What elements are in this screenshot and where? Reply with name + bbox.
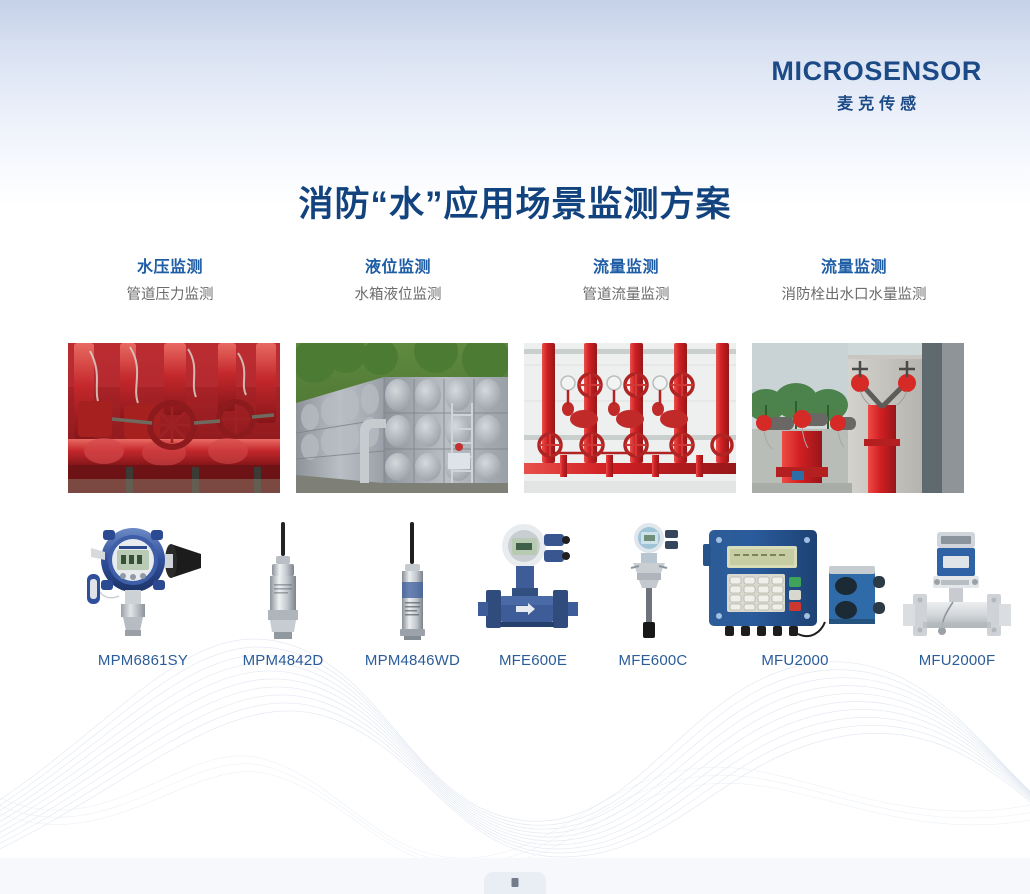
product-item-mpm4846wd[interactable]: MPM4846WD [345, 522, 480, 669]
brand-logo: MICROSENSOR 麦克传感 [771, 58, 982, 114]
product-item-mpm4842d[interactable]: MPM4842D [218, 522, 348, 669]
column-subtitle: 管道流量监测 [512, 286, 740, 305]
column-subtitle: 消防栓出水口水量监测 [740, 286, 968, 305]
product-image-mpm6861sy [68, 522, 218, 640]
slide-page: MICROSENSOR 麦克传感 消防“水”应用场景监测方案 水压监测 管道压力… [0, 0, 1030, 858]
column-heading: 水压监测 [56, 258, 284, 279]
product-item-mfe600e[interactable]: MFE600E [468, 522, 598, 669]
column-header-pressure: 水压监测 管道压力监测 [56, 258, 284, 305]
scene-photo-fire-pump-piping [68, 343, 280, 493]
product-image-mfu2000 [700, 522, 890, 640]
product-lineup: MPM6861SY [40, 522, 990, 687]
scene-photo-fire-hydrants [752, 343, 964, 493]
scene-photo-row [68, 343, 964, 493]
logo-text-en: MICROSENSOR [771, 58, 982, 85]
column-heading: 流量监测 [512, 258, 740, 279]
product-item-mfu2000[interactable]: MFU2000 [700, 522, 890, 669]
product-image-mfe600e [468, 522, 598, 640]
column-heading: 液位监测 [284, 258, 512, 279]
column-header-level: 液位监测 水箱液位监测 [284, 258, 512, 305]
product-label: MPM4842D [218, 652, 348, 669]
product-image-mpm4842d [218, 522, 348, 640]
column-header-flow-hydrant: 流量监测 消防栓出水口水量监测 [740, 258, 968, 305]
product-label: MPM4846WD [345, 652, 480, 669]
column-header-flow-pipe: 流量监测 管道流量监测 [512, 258, 740, 305]
product-image-mfu2000f [882, 522, 1030, 640]
column-subtitle: 水箱液位监测 [284, 286, 512, 305]
product-label: MFU2000F [882, 652, 1030, 669]
product-image-mpm4846wd [345, 522, 480, 640]
column-subtitle: 管道压力监测 [56, 286, 284, 305]
logo-text-cn: 麦克传感 [771, 90, 982, 114]
page-tab-icon [512, 878, 519, 887]
product-label: MFU2000 [700, 652, 890, 669]
column-headers: 水压监测 管道压力监测 液位监测 水箱液位监测 流量监测 管道流量监测 流量监测… [56, 258, 976, 305]
page-navigation-tab[interactable] [484, 872, 546, 894]
product-item-mpm6861sy[interactable]: MPM6861SY [68, 522, 218, 669]
product-item-mfe600c[interactable]: MFE600C [588, 522, 718, 669]
product-label: MPM6861SY [68, 652, 218, 669]
column-heading: 流量监测 [740, 258, 968, 279]
product-item-mfu2000f[interactable]: MFU2000F [882, 522, 1030, 669]
product-label: MFE600C [588, 652, 718, 669]
scene-photo-sprinkler-risers [524, 343, 736, 493]
product-image-mfe600c [588, 522, 718, 640]
product-label: MFE600E [468, 652, 598, 669]
page-title: 消防“水”应用场景监测方案 [0, 176, 1030, 227]
scene-photo-steel-water-tank [296, 343, 508, 493]
